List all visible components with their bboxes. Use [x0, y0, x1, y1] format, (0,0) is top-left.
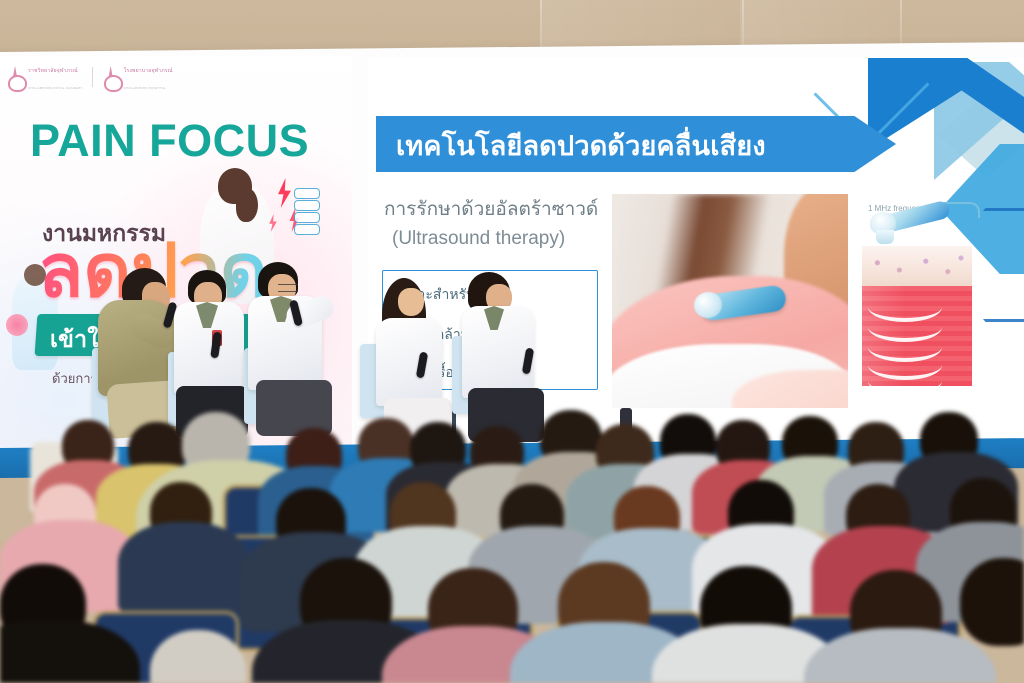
- logo-english-name: CHULABHORN ROYAL ACADEMY: [28, 86, 83, 90]
- pain-spot-icon: [6, 314, 28, 336]
- panelist-face: [398, 288, 424, 316]
- slide-subtitle-english: (Ultrasound therapy): [392, 228, 565, 250]
- poster-logos: ราชวิทยาลัยจุฬาภรณ์ CHULABHORN ROYAL ACA…: [6, 60, 173, 94]
- pain-bolt-icon: [276, 178, 293, 208]
- transducer-neck-icon: [876, 230, 894, 244]
- logo-divider: [92, 67, 93, 87]
- slide-title: เทคโนโลยีลดปวดด้วยคลื่นเสียง: [396, 126, 886, 166]
- ultrasound-treatment-photo: [612, 194, 848, 408]
- logo-thai-name: ราชวิทยาลัยจุฬาภรณ์: [28, 68, 78, 74]
- eyeglasses-icon: [278, 284, 298, 292]
- spine-icon: [294, 188, 322, 240]
- skin-layer-diagram: [860, 194, 984, 390]
- chulabhorn-hospital-logo-icon: [102, 66, 121, 88]
- conference-photo-scene: ราชวิทยาลัยจุฬาภรณ์ CHULABHORN ROYAL ACA…: [0, 0, 1024, 683]
- logo-thai-name: โรงพยาบาลจุฬาภรณ์: [124, 68, 173, 74]
- audience-shoulders: [118, 522, 250, 614]
- panelist-white-coat: [376, 318, 442, 406]
- logo-english-name: CHULABHORN HOSPITAL: [124, 86, 166, 90]
- logo-chulabhorn-hospital: โรงพยาบาลจุฬาภรณ์ CHULABHORN HOSPITAL: [102, 60, 173, 94]
- epidermis-texture: [862, 246, 972, 286]
- poster-headline: PAIN FOCUS: [30, 118, 309, 163]
- slide-subtitle-thai: การรักษาด้วยอัลตร้าซาวด์: [384, 194, 598, 224]
- logo-chulabhorn-royal-academy: ราชวิทยาลัยจุฬาภรณ์ CHULABHORN ROYAL ACA…: [6, 60, 83, 94]
- figure-hair: [236, 188, 258, 222]
- chulabhorn-logo-icon: [6, 66, 25, 88]
- audience: [0, 408, 1024, 683]
